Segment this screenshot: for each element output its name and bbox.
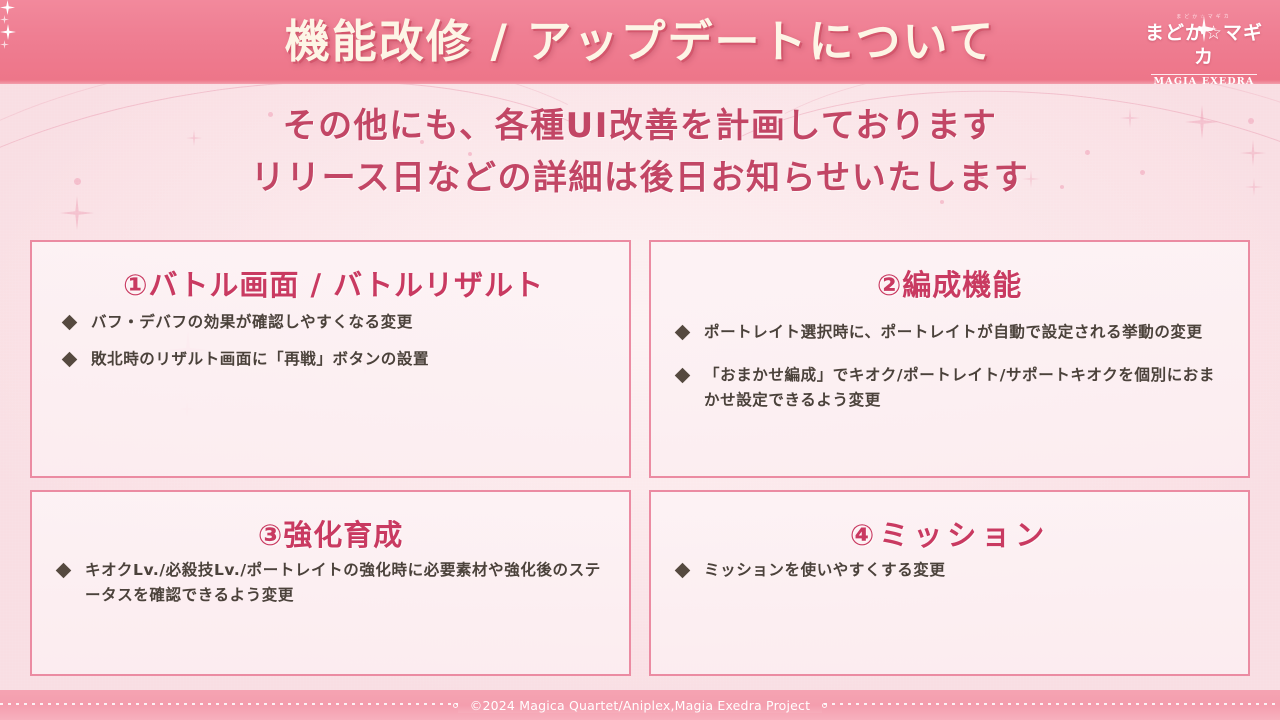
header-band: 機能改修 / アップデートについて まどか☆マギカ まどか☆マギカ MAGIA … (0, 0, 1280, 84)
footer-content: ©2024 Magica Quartet/Aniplex,Magia Exedr… (0, 690, 1280, 720)
logo-sub-text: MAGIA EXEDRA (1151, 74, 1258, 84)
game-logo: まどか☆マギカ まどか☆マギカ MAGIA EXEDRA (1142, 12, 1266, 70)
feature-card-grid: ①バトル画面 / バトルリザルト バフ・デバフの効果が確認しやすくなる変更 敗北… (30, 240, 1250, 676)
dot-decoration (822, 703, 827, 708)
list-item-text: 「おまかせ編成」でキオク/ポートレイト/サポートキオクを個別におまかせ設定できる… (704, 363, 1226, 413)
list-item-text: キオクLv./必殺技Lv./ポートレイトの強化時に必要素材や強化後のステータスを… (85, 558, 607, 608)
list-item: バフ・デバフの効果が確認しやすくなる変更 (60, 310, 607, 335)
diamond-icon (675, 563, 691, 579)
feature-card-formation-feature: ②編成機能 ポートレイト選択時に、ポートレイトが自動で設定される挙動の変更 「お… (649, 240, 1250, 478)
logo-ruby-text: まどか☆マギカ (1142, 14, 1266, 21)
card-title: ②編成機能 (673, 268, 1226, 302)
feature-card-enhancement-training: ③強化育成 キオクLv./必殺技Lv./ポートレイトの強化時に必要素材や強化後の… (30, 490, 631, 676)
footer-band: ©2024 Magica Quartet/Aniplex,Magia Exedr… (0, 690, 1280, 720)
subtitle-block: その他にも、各種UI改善を計画しております リリース日などの詳細は後日お知らせい… (0, 100, 1280, 204)
list-item-text: ポートレイト選択時に、ポートレイトが自動で設定される挙動の変更 (704, 320, 1226, 345)
diamond-icon (56, 563, 72, 579)
list-item-text: バフ・デバフの効果が確認しやすくなる変更 (91, 310, 607, 335)
list-item: キオクLv./必殺技Lv./ポートレイトの強化時に必要素材や強化後のステータスを… (54, 558, 607, 608)
copyright-text: ©2024 Magica Quartet/Aniplex,Magia Exedr… (458, 698, 822, 713)
bullet-list: バフ・デバフの効果が確認しやすくなる変更 敗北時のリザルト画面に「再戦」ボタンの… (60, 310, 607, 372)
slide-root: 機能改修 / アップデートについて まどか☆マギカ まどか☆マギカ MAGIA … (0, 0, 1280, 720)
bullet-list: キオクLv./必殺技Lv./ポートレイトの強化時に必要素材や強化後のステータスを… (54, 558, 607, 608)
diamond-icon (675, 325, 691, 341)
card-title: ③強化育成 (54, 518, 607, 552)
list-item: 敗北時のリザルト画面に「再戦」ボタンの設置 (60, 347, 607, 372)
feature-card-battle-screen: ①バトル画面 / バトルリザルト バフ・デバフの効果が確認しやすくなる変更 敗北… (30, 240, 631, 478)
card-title: ①バトル画面 / バトルリザルト (60, 268, 607, 302)
subtitle-line-1: その他にも、各種UI改善を計画しております (0, 100, 1280, 152)
diamond-icon (675, 368, 691, 384)
bullet-list: ポートレイト選択時に、ポートレイトが自動で設定される挙動の変更 「おまかせ編成」… (673, 320, 1226, 413)
diamond-icon (62, 352, 78, 368)
list-item: ポートレイト選択時に、ポートレイトが自動で設定される挙動の変更 (673, 320, 1226, 345)
feature-card-mission: ④ミッション ミッションを使いやすくする変更 (649, 490, 1250, 676)
list-item-text: ミッションを使いやすくする変更 (704, 558, 1226, 583)
card-title: ④ミッション (673, 518, 1226, 552)
list-item: ミッションを使いやすくする変更 (673, 558, 1226, 583)
page-title: 機能改修 / アップデートについて (0, 5, 1280, 79)
list-item: 「おまかせ編成」でキオク/ポートレイト/サポートキオクを個別におまかせ設定できる… (673, 363, 1226, 413)
subtitle-line-2: リリース日などの詳細は後日お知らせいたします (0, 152, 1280, 204)
bullet-list: ミッションを使いやすくする変更 (673, 558, 1226, 583)
diamond-icon (62, 315, 78, 331)
list-item-text: 敗北時のリザルト画面に「再戦」ボタンの設置 (91, 347, 607, 372)
